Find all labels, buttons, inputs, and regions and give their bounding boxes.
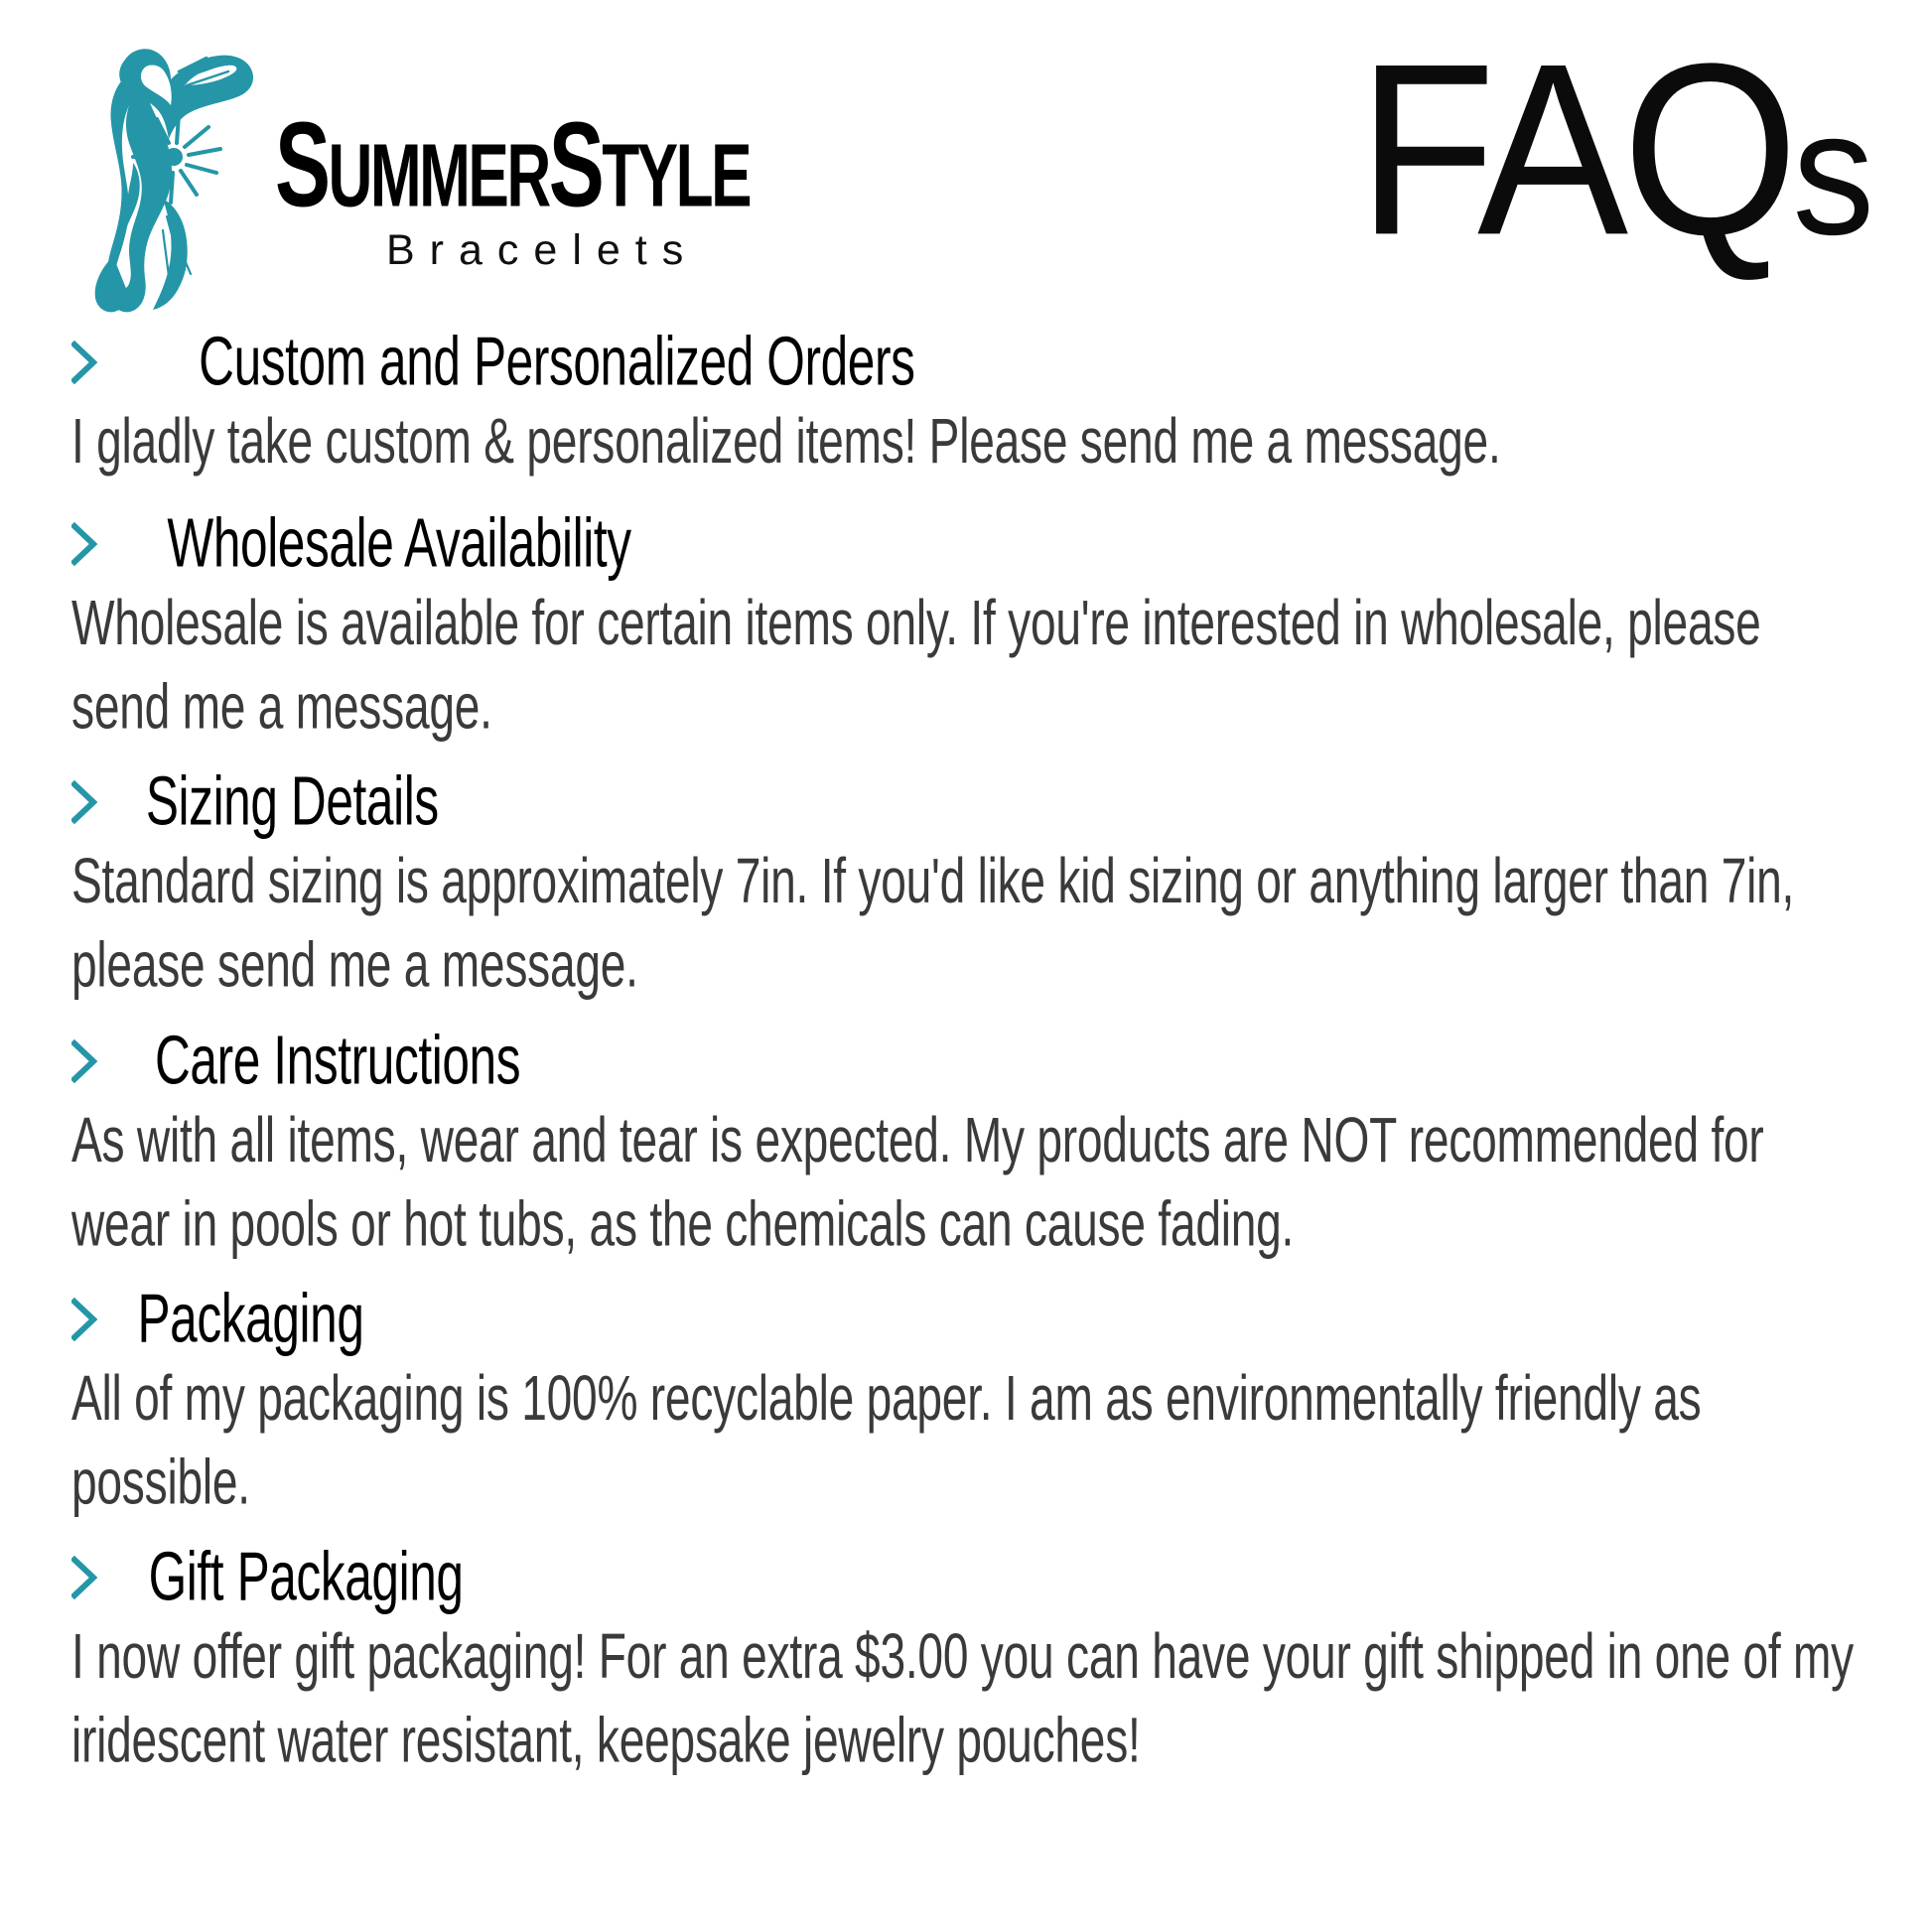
faq-list: Custom and Personalized Orders I gladly … bbox=[0, 332, 1932, 1767]
palm-tree-sketch-icon bbox=[68, 32, 271, 320]
faq-answer-text: All of my packaging is 100% recyclable p… bbox=[71, 1356, 1865, 1525]
chevron-right-icon bbox=[71, 1556, 97, 1599]
faq-question-row[interactable]: Packaging bbox=[71, 1289, 1863, 1350]
faq-question-text: Packaging bbox=[138, 1285, 364, 1353]
brand-name-s1: S bbox=[275, 97, 329, 233]
chevron-right-icon bbox=[71, 522, 97, 566]
faq-question-text: Sizing Details bbox=[146, 768, 439, 837]
faq-question-text: Gift Packaging bbox=[149, 1543, 464, 1611]
faq-question-text: Custom and Personalized Orders bbox=[199, 328, 914, 396]
brand-logo: SUMMERSTYLE Bracelets bbox=[68, 24, 840, 320]
faq-question-text: Wholesale Availability bbox=[167, 509, 630, 578]
page-title-upper: FAQ bbox=[1357, 14, 1792, 286]
faq-answer-text: I now offer gift packaging! For an extra… bbox=[71, 1614, 1865, 1783]
brand-name-s2: S bbox=[549, 97, 603, 233]
faq-page: SUMMERSTYLE Bracelets FAQs Custom and Pe… bbox=[0, 0, 1932, 1932]
faq-question-row[interactable]: Wholesale Availability bbox=[71, 513, 1863, 575]
brand-wordmark: SUMMERSTYLE Bracelets bbox=[275, 119, 840, 275]
page-title: FAQs bbox=[1357, 28, 1868, 272]
chevron-right-icon bbox=[71, 1298, 97, 1341]
page-header: SUMMERSTYLE Bracelets FAQs bbox=[0, 0, 1932, 328]
faq-answer-text: Standard sizing is approximately 7in. If… bbox=[71, 839, 1865, 1008]
faq-question-row[interactable]: Care Instructions bbox=[71, 1031, 1863, 1092]
faq-question-row[interactable]: Sizing Details bbox=[71, 771, 1863, 833]
faq-item: Care Instructions As with all items, wea… bbox=[71, 1031, 1863, 1251]
faq-item: Custom and Personalized Orders I gladly … bbox=[71, 332, 1863, 476]
chevron-right-icon bbox=[71, 1039, 97, 1083]
chevron-right-icon bbox=[71, 341, 97, 384]
brand-name-ummer: UMMER bbox=[329, 125, 549, 225]
brand-name: SUMMERSTYLE bbox=[275, 109, 750, 220]
faq-answer-text: As with all items, wear and tear is expe… bbox=[71, 1098, 1865, 1267]
brand-subtitle: Bracelets bbox=[386, 226, 698, 275]
faq-question-text: Care Instructions bbox=[155, 1027, 520, 1095]
faq-item: Wholesale Availability Wholesale is avai… bbox=[71, 513, 1863, 734]
brand-name-tyle: TYLE bbox=[602, 125, 750, 225]
faq-answer-text: Wholesale is available for certain items… bbox=[71, 581, 1865, 750]
faq-question-row[interactable]: Gift Packaging bbox=[71, 1547, 1863, 1608]
page-title-lower: s bbox=[1793, 73, 1869, 271]
faq-answer-text: I gladly take custom & personalized item… bbox=[71, 399, 1865, 483]
chevron-right-icon bbox=[71, 780, 97, 824]
faq-item: Packaging All of my packaging is 100% re… bbox=[71, 1289, 1863, 1509]
faq-item: Sizing Details Standard sizing is approx… bbox=[71, 771, 1863, 992]
faq-item: Gift Packaging I now offer gift packagin… bbox=[71, 1547, 1863, 1767]
faq-question-row[interactable]: Custom and Personalized Orders bbox=[71, 332, 1863, 393]
